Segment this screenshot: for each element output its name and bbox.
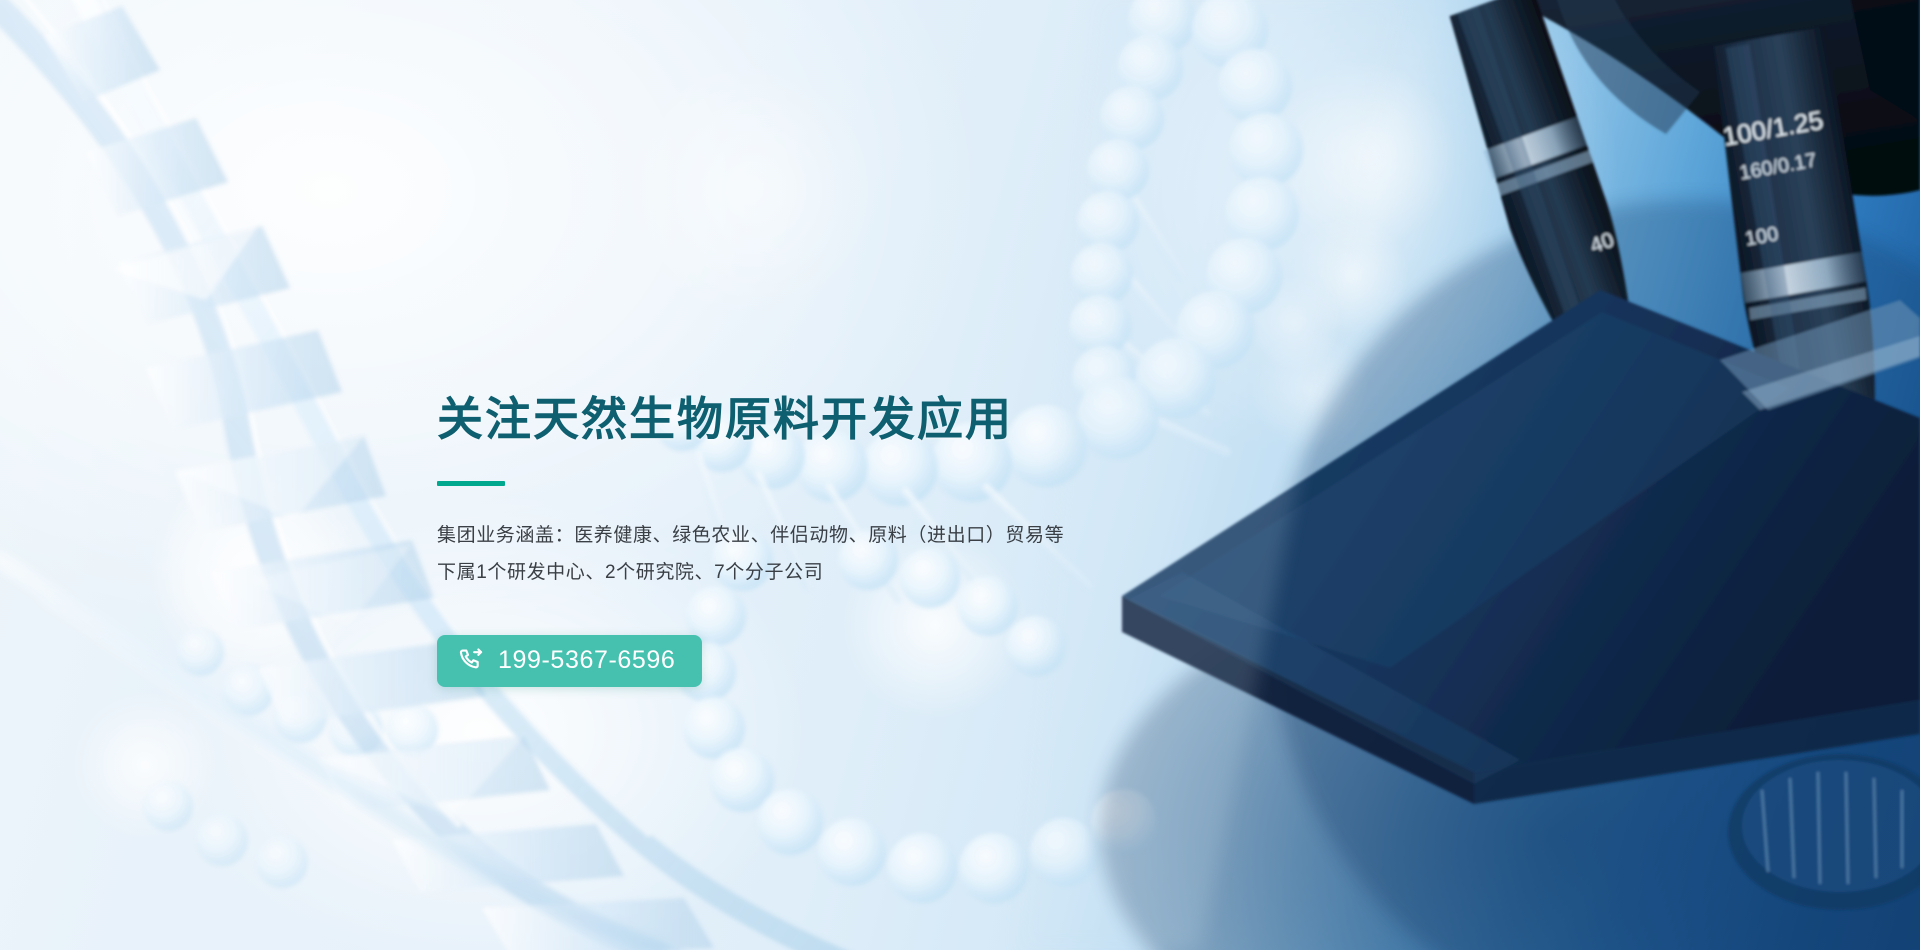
hero-content: 关注天然生物原料开发应用 集团业务涵盖：医养健康、绿色农业、伴侣动物、原料（进出…: [437, 392, 1197, 687]
page-title: 关注天然生物原料开发应用: [437, 392, 1197, 446]
phone-forward-icon: [458, 647, 485, 674]
hero-description: 集团业务涵盖：医养健康、绿色农业、伴侣动物、原料（进出口）贸易等 下属1个研发中…: [437, 517, 1197, 591]
phone-number-label: 199-5367-6596: [498, 648, 675, 673]
phone-cta-button[interactable]: 199-5367-6596: [437, 635, 702, 687]
hero-banner: 40 100/1.25 160/0.17 100: [0, 0, 1920, 950]
hero-description-line-2: 下属1个研发中心、2个研究院、7个分子公司: [437, 554, 1197, 591]
title-underline-rule: [437, 481, 505, 486]
hero-description-line-1: 集团业务涵盖：医养健康、绿色农业、伴侣动物、原料（进出口）贸易等: [437, 517, 1197, 554]
